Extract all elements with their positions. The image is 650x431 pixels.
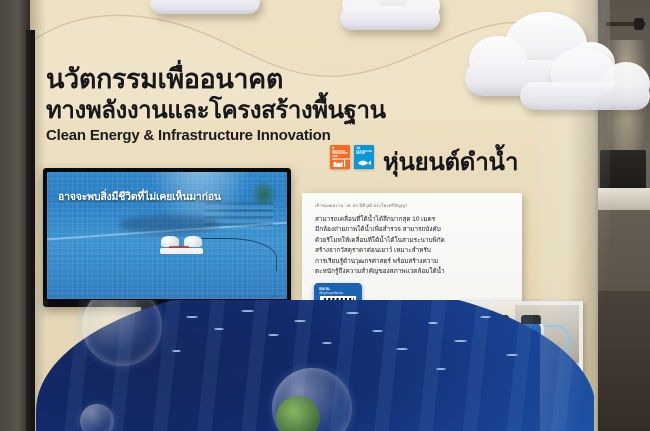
sdg-badge-14: 14 LIFE BELOW WATER [354,145,374,169]
corridor-monitor [600,150,646,192]
monitor-screen: อาจจะพบสิ่งมีชีวิตที่ไม่เคยเห็นมาก่อน LG [47,172,287,299]
cloud-decoration-icon [150,0,260,14]
panel-body-line: ด้วยรีโมทให้เคลื่อนที่ใต้น้ำได้ในสามระนา… [315,236,493,246]
tv-brand-label: LG [272,293,277,298]
panel-body-line: สามารถเคลื่อนที่ใต้น้ำได้ลึกมากสุด 10 เม… [315,215,493,225]
panel-credit-line: เจ้าของผลงาน : ศ. ดร.ปิติวุฒิ ประไพรศรีป… [315,202,407,209]
panel-body-line: สร้างจากวัสดุราคาต่อนเยาว์ เหมาะสำหรับ [315,246,493,256]
video-subtitle: อาจจะพบสิ่งมีชีวิตที่ไม่เคยเห็นมาก่อน [58,188,221,205]
underwater-robot-on-screen [160,236,203,259]
cloud-decoration-icon [340,0,440,30]
sdg-badge-group: 9 INDUSTRY, INNOVATION AND INFRASTRUCTUR… [330,145,374,169]
display-monitor[interactable]: อาจจะพบสิ่งมีชีวิตที่ไม่เคยเห็นมาก่อน LG [43,168,291,307]
panel-body-line: ตะหนักรู้ถึงความสำคัญของสภาพแวดล้อมใต้น้… [315,267,493,277]
pool-plant [251,180,277,205]
cloud-decoration-icon [520,48,650,110]
sdg-badge-caption: LIFE BELOW WATER [356,151,372,156]
page-title-thai-line2: ทางพลังงานและโครงสร้างพื้นฐาน [46,90,386,129]
qr-card-subtitle: เพื่อดูข้อมูลเพิ่มเติม [319,291,343,296]
underwater-mural [28,300,594,431]
exhibit-photo: นวัตกรรมเพื่ออนาคต ทางพลังงานและโครงสร้า… [0,0,650,431]
corridor-desk [596,188,650,210]
page-title-english: Clean Energy & Infrastructure Innovation [46,127,331,144]
wall-edge-shadow [26,30,35,431]
bubble-small [80,404,114,431]
panel-body-line: การเรียนรู้ด้านวุฒกรศาสตร์ พร้อมสร้างควา… [315,257,493,267]
panel-body-text: สามารถเคลื่อนที่ใต้น้ำได้ลึกมากสุด 10 เม… [315,215,493,277]
exhibit-heading: หุ่นยนต์ดำน้ำ [383,142,518,181]
sdg-badge-9: 9 INDUSTRY, INNOVATION AND INFRASTRUCTUR… [330,145,350,169]
spotlight-fixture-icon [634,18,644,30]
fish-icon [357,159,372,167]
corridor-floor [596,291,650,431]
factory-icon [333,158,348,167]
panel-body-line: มีกล้องถ่ายภาพใต้น้ำเพื่อสำรวจ สามารถบัง… [315,225,493,235]
